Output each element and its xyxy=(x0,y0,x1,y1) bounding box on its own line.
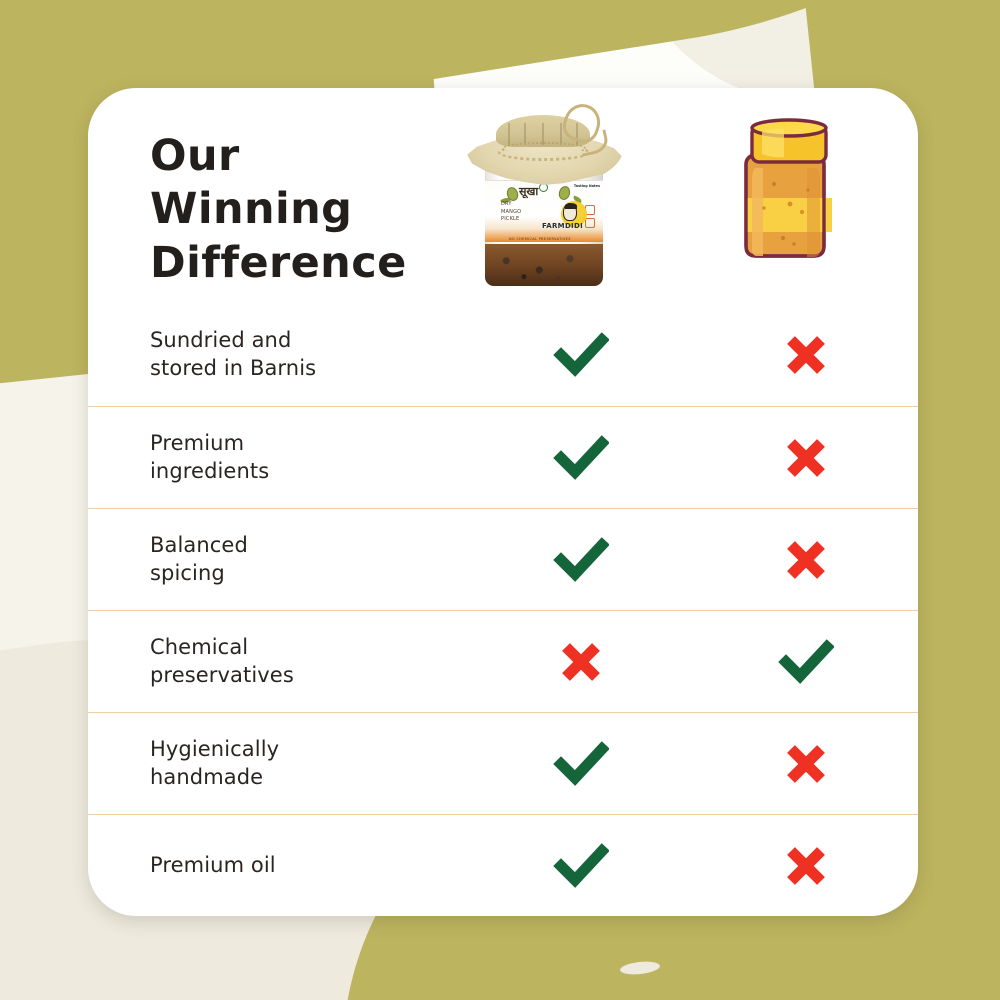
poster-stage: Our Winning Difference xyxy=(0,0,1000,1000)
title-line-2: Winning xyxy=(150,183,407,236)
comparison-rows: Sundried and stored in Barnis Prem xyxy=(88,304,918,916)
check-icon xyxy=(553,736,609,792)
jar-tasting-badge: Tasting Notes xyxy=(574,184,600,188)
table-row: Premium ingredients xyxy=(88,406,918,508)
check-badge-icon xyxy=(585,218,595,228)
cross-icon xyxy=(778,327,834,383)
our-product-mark-cell xyxy=(468,532,693,588)
cross-icon xyxy=(778,838,834,894)
jar-twine xyxy=(502,142,586,155)
title-line-3: Difference xyxy=(150,237,407,290)
comparison-card: Our Winning Difference xyxy=(88,88,918,916)
row-label: Premium ingredients xyxy=(88,430,468,485)
our-product-mark-cell xyxy=(468,736,693,792)
other-product-mark-cell xyxy=(693,430,918,486)
jar-brand-name: FARMDIDI xyxy=(542,222,583,230)
check-icon xyxy=(553,327,609,383)
cross-icon xyxy=(553,634,609,690)
table-row: Balanced spicing xyxy=(88,508,918,610)
other-product-jar-icon xyxy=(728,112,850,272)
our-product-mark-cell xyxy=(468,634,693,690)
jar-label-english: DRY MANGO PICKLE xyxy=(501,201,521,224)
other-product-mark-cell xyxy=(693,634,918,690)
other-product-mark-cell xyxy=(693,532,918,588)
row-label: Chemical preservatives xyxy=(88,634,468,689)
row-label: Hygienically handmade xyxy=(88,736,468,791)
table-row: Premium oil xyxy=(88,814,918,916)
table-row: Sundried and stored in Barnis xyxy=(88,304,918,406)
title-line-1: Our xyxy=(150,130,407,183)
check-icon xyxy=(778,634,834,690)
table-row: Chemical preservatives xyxy=(88,610,918,712)
our-product-mark-cell xyxy=(468,430,693,486)
other-product-mark-cell xyxy=(693,736,918,792)
table-row: Hygienically handmade xyxy=(88,712,918,814)
card-header: Our Winning Difference xyxy=(88,88,918,304)
mango-graphic xyxy=(557,185,571,201)
jar-label: सूखा DRY MANGO PICKLE FARMDIDI NO CHEMIC… xyxy=(485,180,603,242)
check-icon xyxy=(553,838,609,894)
cross-icon xyxy=(778,736,834,792)
cross-icon xyxy=(778,532,834,588)
other-product-mark-cell xyxy=(693,838,918,894)
row-label: Sundried and stored in Barnis xyxy=(88,327,468,382)
row-label: Balanced spicing xyxy=(88,532,468,587)
other-product-mark-cell xyxy=(693,327,918,383)
jar-no-preservatives-claim: NO CHEMICAL PRESERVATIVES xyxy=(509,237,571,241)
jar-glass-body: सूखा DRY MANGO PICKLE FARMDIDI NO CHEMIC… xyxy=(485,168,603,286)
our-product-jar-icon: सूखा DRY MANGO PICKLE FARMDIDI NO CHEMIC… xyxy=(458,102,628,294)
check-icon xyxy=(553,532,609,588)
jar-pickle-contents xyxy=(485,244,603,286)
check-icon xyxy=(553,430,609,486)
row-label: Premium oil xyxy=(88,852,468,880)
page-title: Our Winning Difference xyxy=(150,130,407,290)
jar-label-hindi-title: सूखा xyxy=(519,186,538,198)
our-product-mark-cell xyxy=(468,838,693,894)
cross-icon xyxy=(778,430,834,486)
our-product-mark-cell xyxy=(468,327,693,383)
didi-character-icon xyxy=(563,203,577,221)
